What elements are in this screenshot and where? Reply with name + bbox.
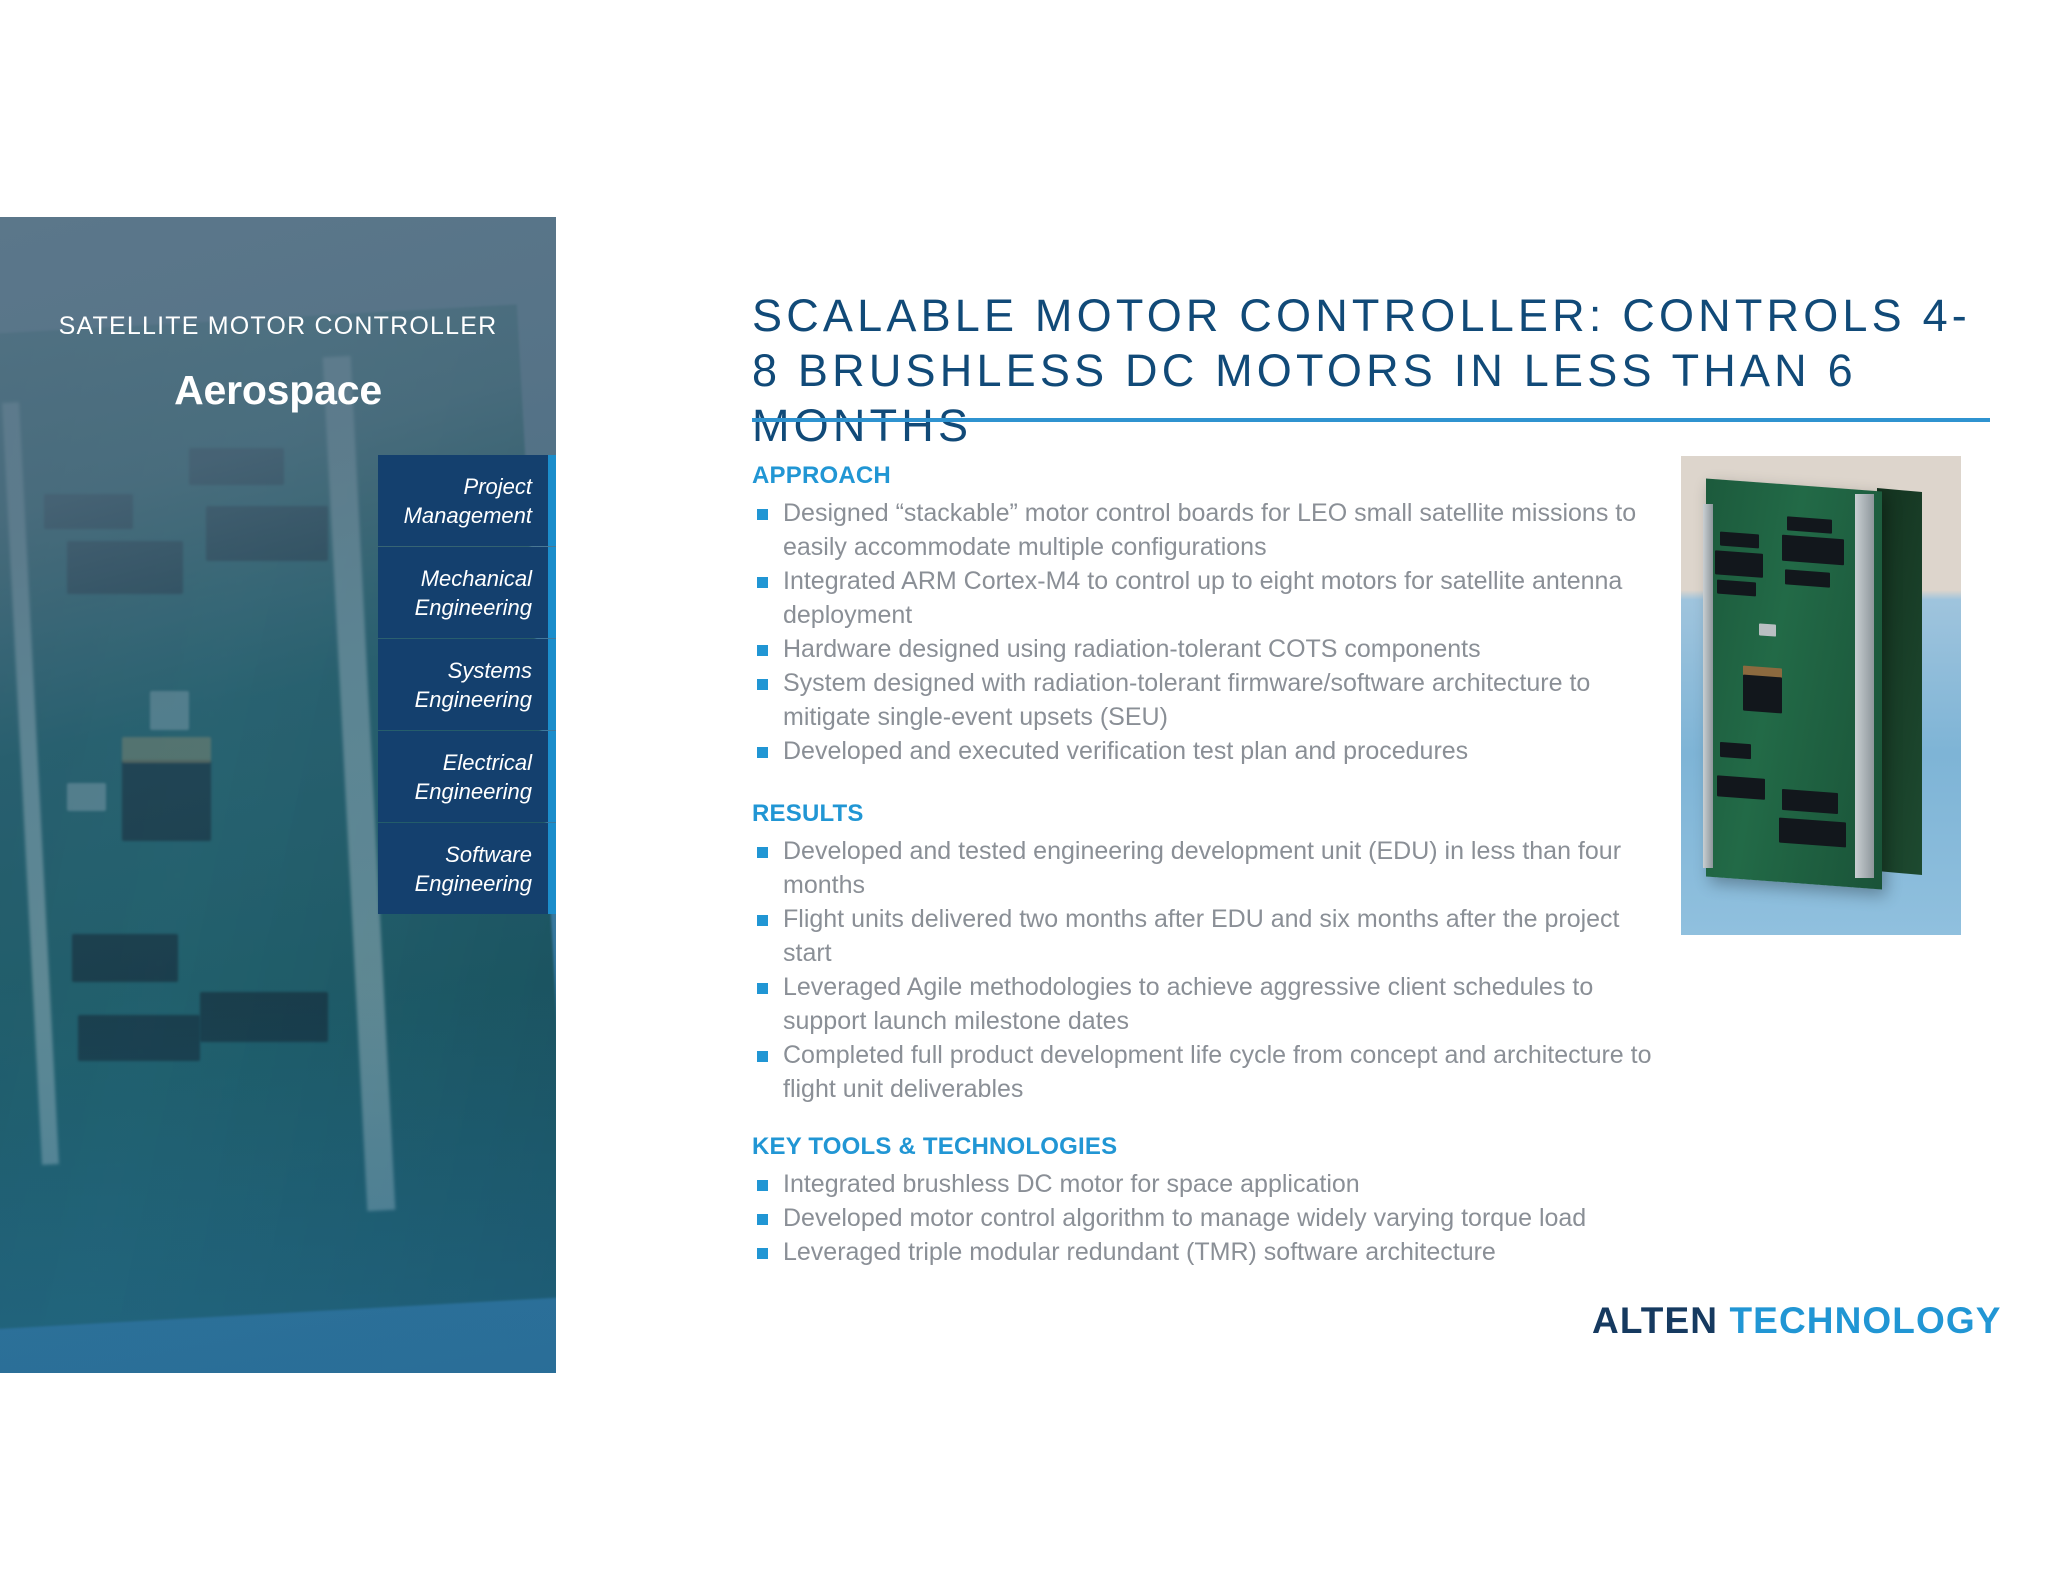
certificate-document-icon xyxy=(548,639,556,730)
discipline-tab-mechanical-engineering[interactable]: Mechanical Engineering xyxy=(378,547,556,638)
product-photo-component xyxy=(1720,742,1751,760)
section-heading: RESULTS xyxy=(752,800,1662,828)
list-item: Leveraged Agile methodologies to achieve… xyxy=(752,970,1662,1038)
calendar-check-icon xyxy=(548,455,556,546)
list-item: Developed and executed verification test… xyxy=(752,734,1662,768)
gears-icon xyxy=(548,547,556,638)
product-photo-standoff xyxy=(1759,623,1776,637)
discipline-label-line1: Mechanical xyxy=(421,564,532,593)
product-photo-edge-rail xyxy=(1703,504,1713,868)
product-photo xyxy=(1681,456,1961,935)
discipline-tab-label: Software Engineering xyxy=(378,823,548,914)
discipline-label-line1: Electrical xyxy=(443,748,532,777)
product-photo-inductor xyxy=(1743,675,1782,714)
discipline-tab-label: Electrical Engineering xyxy=(378,731,548,822)
logo-technology: TECHNOLOGY xyxy=(1729,1300,2001,1341)
results-bullet-list: Developed and tested engineering develop… xyxy=(752,834,1662,1106)
discipline-tab-systems-engineering[interactable]: Systems Engineering xyxy=(378,639,556,730)
section-heading: APPROACH xyxy=(752,462,1662,490)
list-item: System designed with radiation-tolerant … xyxy=(752,666,1662,734)
discipline-label-line1: Project xyxy=(464,472,532,501)
product-photo-connector xyxy=(1779,818,1846,848)
product-photo-component xyxy=(1720,531,1759,548)
section-results: RESULTS Developed and tested engineering… xyxy=(752,800,1662,1106)
alten-technology-logo: ALTEN TECHNOLOGY xyxy=(1592,1300,2002,1342)
section-key-tools: KEY TOOLS & TECHNOLOGIES Integrated brus… xyxy=(752,1133,1662,1269)
product-photo-connector xyxy=(1717,775,1765,800)
key-tools-bullet-list: Integrated brushless DC motor for space … xyxy=(752,1167,1662,1269)
discipline-label-line1: Software xyxy=(445,840,532,869)
discipline-tab-label: Systems Engineering xyxy=(378,639,548,730)
discipline-tab-label: Project Management xyxy=(378,455,548,546)
list-item: Hardware designed using radiation-tolera… xyxy=(752,632,1662,666)
product-photo-component xyxy=(1782,789,1838,814)
discipline-label-line2: Management xyxy=(404,501,532,530)
logo-alten: ALTEN xyxy=(1592,1300,1718,1341)
list-item: Flight units delivered two months after … xyxy=(752,902,1662,970)
discipline-label-line2: Engineering xyxy=(415,593,532,622)
discipline-tab-electrical-engineering[interactable]: Electrical Engineering xyxy=(378,731,556,822)
section-heading: KEY TOOLS & TECHNOLOGIES xyxy=(752,1133,1662,1161)
product-photo-second-board xyxy=(1877,488,1922,875)
panel-title: Aerospace xyxy=(0,367,556,414)
list-item: Designed “stackable” motor control board… xyxy=(752,496,1662,564)
list-item: Integrated brushless DC motor for space … xyxy=(752,1167,1662,1201)
product-photo-connector xyxy=(1782,535,1844,566)
product-photo-connector xyxy=(1715,550,1763,577)
section-approach: APPROACH Designed “stackable” motor cont… xyxy=(752,462,1662,768)
approach-bullet-list: Designed “stackable” motor control board… xyxy=(752,496,1662,768)
left-hero-panel: SATELLITE MOTOR CONTROLLER Aerospace Pro… xyxy=(0,217,556,1373)
list-item: Completed full product development life … xyxy=(752,1038,1662,1106)
laptop-code-icon xyxy=(548,823,556,914)
lightning-bolt-icon xyxy=(548,731,556,822)
list-item: Integrated ARM Cortex-M4 to control up t… xyxy=(752,564,1662,632)
panel-kicker: SATELLITE MOTOR CONTROLLER xyxy=(0,312,556,341)
discipline-label-line2: Engineering xyxy=(415,685,532,714)
discipline-label-line2: Engineering xyxy=(415,777,532,806)
list-item: Leveraged triple modular redundant (TMR)… xyxy=(752,1235,1662,1269)
discipline-tab-label: Mechanical Engineering xyxy=(378,547,548,638)
headline-divider xyxy=(752,418,1990,422)
list-item: Developed motor control algorithm to man… xyxy=(752,1201,1662,1235)
page-title: SCALABLE MOTOR CONTROLLER: CONTROLS 4-8 … xyxy=(752,288,1992,453)
product-photo-rail xyxy=(1855,494,1875,877)
product-photo-component xyxy=(1717,579,1756,596)
list-item: Developed and tested engineering develop… xyxy=(752,834,1662,902)
discipline-label-line1: Systems xyxy=(448,656,532,685)
discipline-tab-project-management[interactable]: Project Management xyxy=(378,455,556,546)
discipline-label-line2: Engineering xyxy=(415,869,532,898)
discipline-tab-software-engineering[interactable]: Software Engineering xyxy=(378,823,556,914)
